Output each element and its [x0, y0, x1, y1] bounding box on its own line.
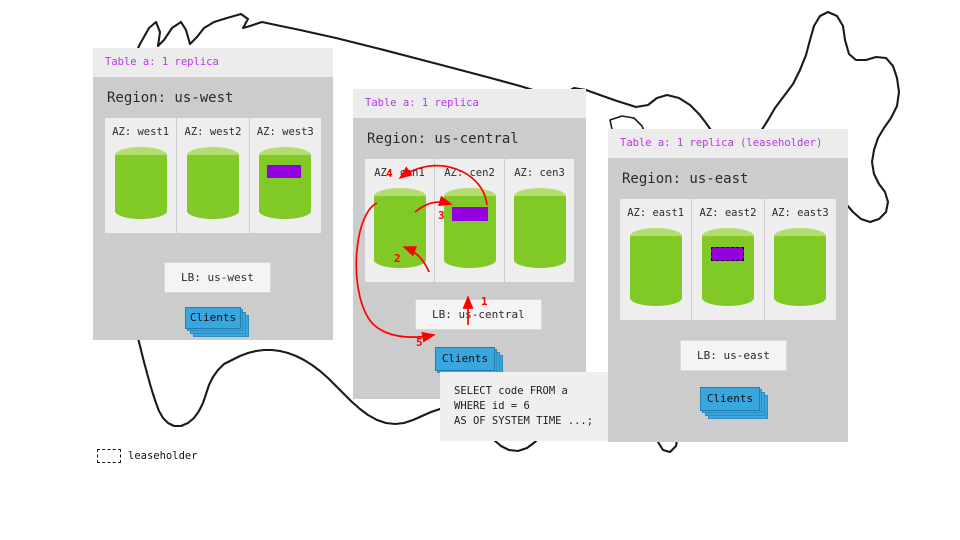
region-header-us-central: Table a: 1 replica	[353, 89, 586, 118]
region-body-us-west: Region: us-west AZ: west1 AZ: west2	[93, 77, 333, 340]
az-row-us-west: AZ: west1 AZ: west2 AZ	[105, 118, 321, 233]
cylinder-body-east3	[774, 236, 826, 298]
az-label-east1: AZ: east1	[627, 207, 684, 219]
az-label-west3: AZ: west3	[257, 126, 314, 138]
arrow-number-1: 1	[481, 295, 488, 308]
cylinder-bottom-east3	[774, 290, 826, 306]
range-replica-west3[interactable]	[267, 165, 301, 178]
cylinder-bottom-west1	[115, 203, 167, 219]
region-body-us-central: Region: us-central AZ: cen1 AZ: cen2	[353, 118, 586, 399]
az-row-us-east: AZ: east1 AZ: east2	[620, 199, 836, 320]
cylinder-west3[interactable]	[259, 147, 311, 219]
region-card-us-east: Table a: 1 replica (leaseholder) Region:…	[608, 129, 848, 442]
region-body-us-east: Region: us-east AZ: east1 AZ: east2	[608, 158, 848, 442]
cylinder-west2[interactable]	[187, 147, 239, 219]
region-header-us-east: Table a: 1 replica (leaseholder)	[608, 129, 848, 158]
cylinder-cen3[interactable]	[514, 188, 566, 268]
region-card-us-central: Table a: 1 replica Region: us-central AZ…	[353, 89, 586, 399]
region-title-us-west: Region: us-west	[93, 77, 333, 118]
az-label-east3: AZ: east3	[772, 207, 829, 219]
az-label-cen2: AZ: cen2	[444, 167, 495, 179]
cylinder-east2[interactable]	[702, 228, 754, 306]
az-label-cen3: AZ: cen3	[514, 167, 565, 179]
cylinder-bottom-cen2	[444, 252, 496, 268]
cylinder-west1[interactable]	[115, 147, 167, 219]
arrow-number-3: 3	[438, 209, 445, 222]
region-title-us-east: Region: us-east	[608, 158, 848, 199]
cylinder-body-cen1	[374, 196, 426, 260]
az-east2[interactable]: AZ: east2	[692, 199, 764, 320]
cylinder-body-cen2	[444, 196, 496, 260]
clients-label-us-west[interactable]: Clients	[185, 307, 241, 329]
legend-leaseholder: leaseholder	[97, 449, 198, 463]
cylinder-bottom-west2	[187, 203, 239, 219]
region-card-us-west: Table a: 1 replica Region: us-west AZ: w…	[93, 48, 333, 340]
arrow-number-4: 4	[386, 167, 393, 180]
az-label-east2: AZ: east2	[700, 207, 757, 219]
az-cen3[interactable]: AZ: cen3	[505, 159, 574, 282]
az-east1[interactable]: AZ: east1	[620, 199, 692, 320]
dashed-rect-swatch	[97, 449, 121, 463]
az-west1[interactable]: AZ: west1	[105, 118, 177, 233]
load-balancer-us-west[interactable]: LB: us-west	[164, 262, 271, 293]
cylinder-east3[interactable]	[774, 228, 826, 306]
cylinder-bottom-west3	[259, 203, 311, 219]
arrow-number-2: 2	[394, 252, 401, 265]
cylinder-body-east2	[702, 236, 754, 298]
clients-label-us-central[interactable]: Clients	[435, 347, 495, 371]
range-replica-cen2[interactable]	[452, 207, 488, 221]
diagram-canvas: Table a: 1 replica Region: us-west AZ: w…	[0, 0, 960, 540]
az-east3[interactable]: AZ: east3	[765, 199, 836, 320]
load-balancer-us-east[interactable]: LB: us-east	[680, 340, 787, 371]
arrow-number-5: 5	[416, 336, 423, 349]
cylinder-body-cen3	[514, 196, 566, 260]
clients-us-west[interactable]: Clients	[185, 307, 251, 337]
cylinder-bottom-east2	[702, 290, 754, 306]
az-label-west1: AZ: west1	[112, 126, 169, 138]
load-balancer-us-central[interactable]: LB: us-central	[415, 299, 542, 330]
az-label-cen1: AZ: cen1	[374, 167, 425, 179]
cylinder-cen2[interactable]	[444, 188, 496, 268]
cylinder-bottom-east1	[630, 290, 682, 306]
cylinder-body-east1	[630, 236, 682, 298]
region-header-us-west: Table a: 1 replica	[93, 48, 333, 77]
range-leaseholder-east2[interactable]	[711, 247, 744, 261]
sql-query-box: SELECT code FROM a WHERE id = 6 AS OF SY…	[440, 372, 609, 441]
az-label-west2: AZ: west2	[185, 126, 242, 138]
region-title-us-central: Region: us-central	[353, 118, 586, 159]
cylinder-bottom-cen3	[514, 252, 566, 268]
az-west3[interactable]: AZ: west3	[250, 118, 321, 233]
cylinder-east1[interactable]	[630, 228, 682, 306]
az-west2[interactable]: AZ: west2	[177, 118, 249, 233]
legend-label: leaseholder	[128, 450, 198, 462]
clients-label-us-east[interactable]: Clients	[700, 387, 760, 411]
clients-us-east[interactable]: Clients	[700, 387, 770, 419]
az-cen2[interactable]: AZ: cen2	[435, 159, 505, 282]
